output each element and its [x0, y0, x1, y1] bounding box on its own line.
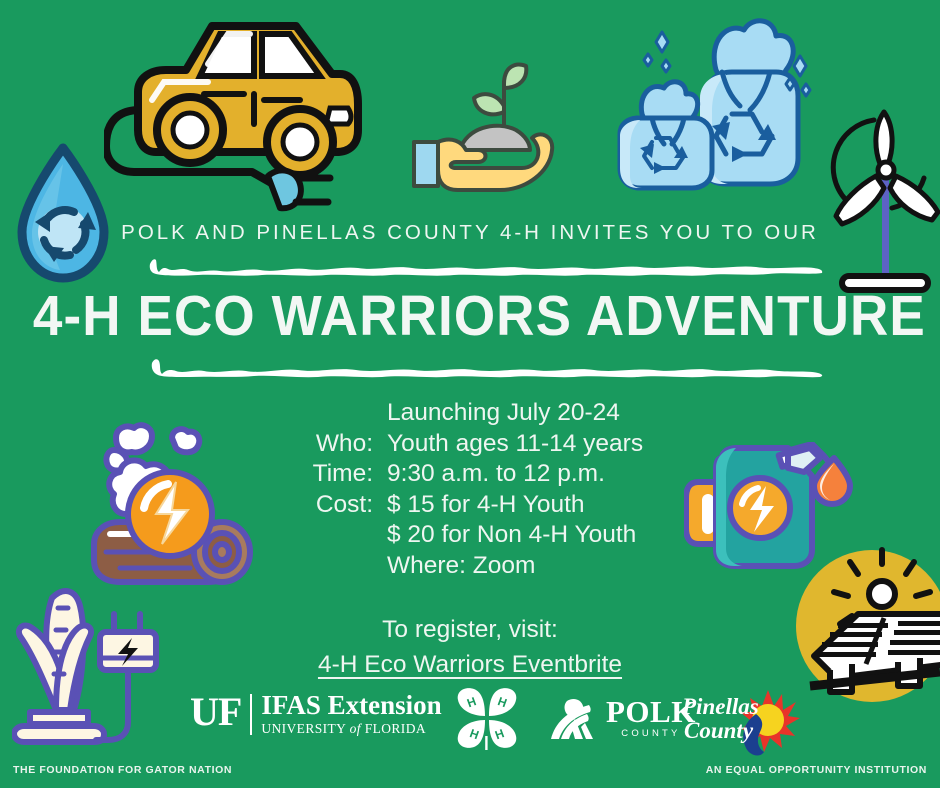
- hand-planting-sprout-icon: [404, 58, 560, 199]
- electric-car-icon: [104, 12, 366, 222]
- pinellas-line1: Pinellas: [682, 694, 759, 719]
- register-prompt: To register, visit:: [0, 614, 940, 646]
- registration-block: To register, visit: 4-H Eco Warriors Eve…: [0, 614, 940, 681]
- footer-right: AN EQUAL OPPORTUNITY INSTITUTION: [706, 764, 927, 776]
- brush-divider-top: [148, 256, 824, 278]
- pinellas-line2: County: [684, 718, 754, 743]
- wind-turbine-icon: [828, 92, 940, 305]
- recycling-bags-icon: [604, 8, 816, 199]
- detail-label-time: Time:: [295, 459, 387, 490]
- eventbrite-link[interactable]: 4-H Eco Warriors Eventbrite: [318, 649, 622, 681]
- polk-sun-road-icon: [545, 695, 601, 741]
- uf-wordmark: IFAS Extension UNIVERSITY of FLORIDA: [261, 692, 441, 737]
- uf-monogram: UF: [190, 692, 250, 737]
- water-drop-recycle-icon: [8, 140, 118, 295]
- pinellas-county-logo: Pinellas County: [682, 686, 800, 763]
- footer-left: THE FOUNDATION FOR GATOR NATION: [13, 764, 232, 776]
- detail-launching: Launching July 20-24: [0, 398, 940, 429]
- detail-value-cost: $ 15 for 4-H Youth: [387, 490, 645, 521]
- uf-divider: [250, 694, 252, 735]
- uf-florida-word: FLORIDA: [365, 721, 426, 736]
- uf-ifas-extension-logo: UF IFAS Extension UNIVERSITY of FLORIDA: [190, 692, 442, 737]
- uf-university-word: UNIVERSITY: [261, 721, 346, 736]
- kicker-text: POLK AND PINELLAS COUNTY 4-H INVITES YOU…: [0, 221, 940, 245]
- launching-spacer: [295, 398, 387, 429]
- brush-divider-bottom: [148, 357, 824, 379]
- detail-row-time: Time: 9:30 a.m. to 12 p.m.: [0, 459, 940, 490]
- event-details: Launching July 20-24 Who: Youth ages 11-…: [0, 398, 940, 581]
- eco-warriors-flyer: POLK AND PINELLAS COUNTY 4-H INVITES YOU…: [0, 0, 940, 788]
- four-h-clover-logo: H H H H: [452, 686, 522, 757]
- detail-label-who: Who:: [295, 429, 387, 460]
- detail-row-who: Who: Youth ages 11-14 years: [0, 429, 940, 460]
- detail-row-cost: Cost: $ 15 for 4-H Youth: [0, 490, 940, 521]
- detail-row-cost-nonmember: $ 20 for Non 4-H Youth: [0, 520, 940, 551]
- detail-value-cost-nonmember: $ 20 for Non 4-H Youth: [387, 520, 645, 551]
- polk-county-logo: POLK COUNTY: [545, 695, 696, 741]
- detail-label-where-spacer: [295, 551, 387, 582]
- launching-value: Launching July 20-24: [387, 398, 645, 429]
- detail-label-cost: Cost:: [295, 490, 387, 521]
- uf-ifas-line: IFAS Extension: [261, 692, 441, 719]
- uf-university-line: UNIVERSITY of FLORIDA: [261, 721, 441, 737]
- detail-value-where: Where: Zoom: [387, 551, 645, 582]
- detail-value-time: 9:30 a.m. to 12 p.m.: [387, 459, 645, 490]
- uf-of-word: of: [350, 721, 361, 736]
- detail-row-where: Where: Zoom: [0, 551, 940, 582]
- detail-label-empty: [295, 520, 387, 551]
- detail-value-who: Youth ages 11-14 years: [387, 429, 645, 460]
- page-title: 4-H ECO WARRIORS ADVENTURE: [33, 288, 907, 345]
